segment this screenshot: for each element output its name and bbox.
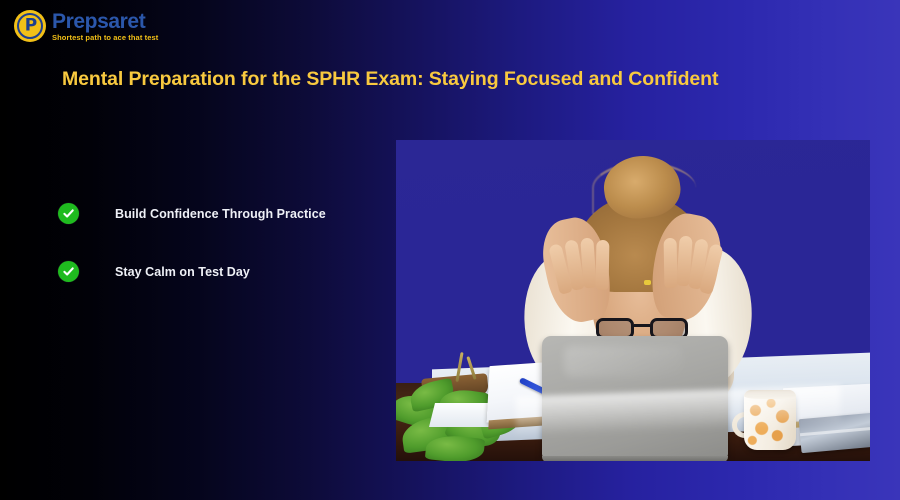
stressed-student-photo [396,140,870,461]
bullet-label: Build Confidence Through Practice [115,207,326,221]
list-item: Build Confidence Through Practice [58,203,326,224]
slide-canvas: P Prepsaret Shortest path to ace that te… [0,0,900,500]
bullet-label: Stay Calm on Test Day [115,265,250,279]
laptop-edge [542,456,728,461]
brand-name: Prepsaret [52,11,158,32]
magazine-fold [800,427,870,436]
finger [596,240,610,290]
finger-ring [644,280,651,285]
brand-wordmark: Prepsaret Shortest path to ace that test [52,11,158,42]
green-check-circle-icon [58,261,79,282]
photo-scene [396,140,870,461]
prepsaret-circle-p-logo-icon: P [14,10,46,42]
finger [664,238,678,288]
laptop-highlight [564,346,683,378]
glasses-bridge [634,324,650,327]
bullet-list: Build Confidence Through Practice Stay C… [58,203,326,282]
list-item: Stay Calm on Test Day [58,261,326,282]
brand-logo[interactable]: P Prepsaret Shortest path to ace that te… [14,10,158,42]
slide-title: Mental Preparation for the SPHR Exam: St… [62,68,872,91]
green-check-circle-icon [58,203,79,224]
logo-p-glyph: P [25,17,35,34]
brand-tagline: Shortest path to ace that test [52,34,158,42]
